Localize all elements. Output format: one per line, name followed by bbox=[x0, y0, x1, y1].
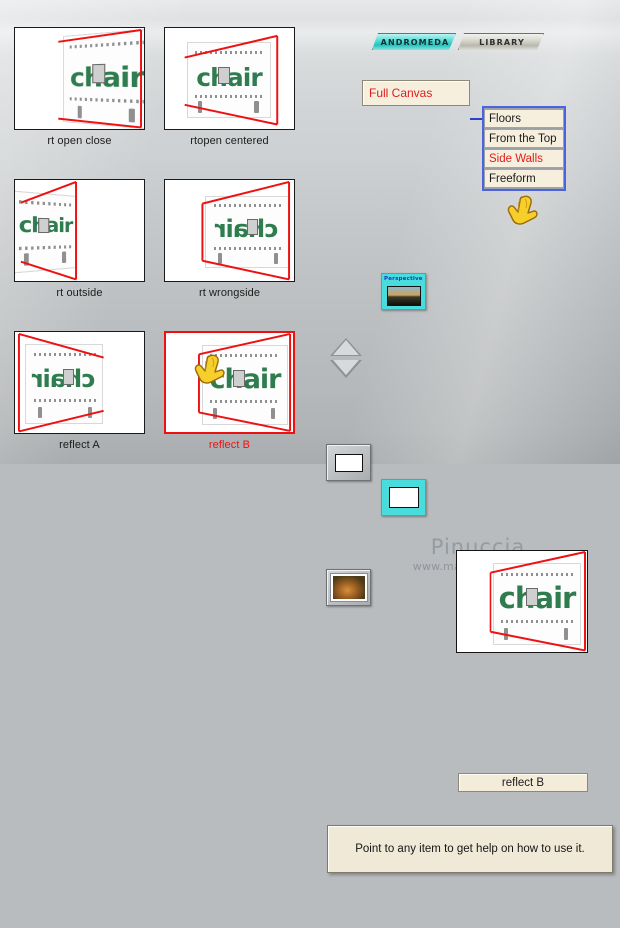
thumbnail-cell[interactable]: chair rt open close bbox=[14, 27, 145, 147]
rect-icon bbox=[389, 487, 419, 508]
perspective-guides bbox=[165, 180, 294, 281]
menu-item-from-the-top[interactable]: From the Top bbox=[485, 129, 563, 148]
preview-label: reflect B bbox=[458, 773, 588, 792]
preset-perspective[interactable]: Perspective bbox=[381, 273, 426, 310]
rect-icon bbox=[335, 454, 363, 472]
preset-white-frame[interactable] bbox=[381, 479, 426, 516]
thumbnail-cell[interactable]: chair rtopen centered bbox=[164, 27, 295, 147]
thumbnail-image[interactable]: chair bbox=[14, 331, 145, 434]
perspective-guides bbox=[165, 28, 294, 129]
help-text-bar: Point to any item to get help on how to … bbox=[327, 825, 613, 873]
tab-bar: ANDROMEDA LIBRARY bbox=[372, 33, 620, 51]
perspective-guides bbox=[166, 333, 293, 433]
preview-canvas[interactable]: chair bbox=[456, 550, 588, 653]
thumbnail-image[interactable]: chair bbox=[164, 27, 295, 130]
thumbnail-image[interactable]: chair bbox=[164, 179, 295, 282]
menu-item-floors[interactable]: Floors bbox=[485, 109, 563, 128]
thumbnail-cell[interactable]: chair rt wrongside bbox=[164, 179, 295, 299]
thumbnail-image[interactable]: chair bbox=[14, 179, 145, 282]
menu-item-freeform[interactable]: Freeform bbox=[485, 169, 563, 188]
thumbnail-caption: rt open close bbox=[14, 135, 145, 147]
scroll-down-button[interactable] bbox=[330, 360, 362, 378]
thumbnail-caption: rt wrongside bbox=[164, 287, 295, 299]
thumbnail-caption: rtopen centered bbox=[164, 135, 295, 147]
photo-thumb-icon bbox=[387, 286, 421, 306]
perspective-guides bbox=[15, 332, 144, 433]
mode-menu: Floors From the Top Side Walls Freeform bbox=[482, 106, 566, 191]
mode-current-value[interactable]: Full Canvas bbox=[362, 80, 470, 106]
thumbnail-image[interactable]: chair bbox=[164, 331, 295, 434]
thumbnail-cell-selected[interactable]: chair bbox=[164, 331, 295, 451]
perspective-plugin-window: chair rt open close bbox=[0, 0, 620, 464]
preset-image-sample[interactable] bbox=[326, 569, 371, 606]
preset-perspective-label: Perspective bbox=[384, 276, 423, 282]
scroll-up-button[interactable] bbox=[330, 338, 362, 356]
perspective-guides bbox=[457, 551, 587, 652]
hand-pointer-icon bbox=[506, 192, 540, 236]
perspective-guides bbox=[15, 28, 144, 129]
menu-item-side-walls[interactable]: Side Walls bbox=[485, 149, 563, 168]
thumbnail-caption: reflect B bbox=[164, 439, 295, 451]
thumbnail-cell[interactable]: chair reflect A bbox=[14, 331, 145, 451]
preset-surface-grid[interactable] bbox=[326, 444, 371, 481]
thumbnail-caption: reflect A bbox=[14, 439, 145, 451]
scroll-arrows bbox=[330, 338, 362, 378]
thumbnail-cell[interactable]: chair rt outside bbox=[14, 179, 145, 299]
photo-thumb-icon bbox=[331, 574, 367, 601]
thumbnail-caption: rt outside bbox=[14, 287, 145, 299]
thumbnail-image[interactable]: chair bbox=[14, 27, 145, 130]
perspective-guides bbox=[15, 180, 144, 281]
tab-andromeda[interactable]: ANDROMEDA bbox=[372, 33, 456, 50]
tab-library[interactable]: LIBRARY bbox=[458, 33, 544, 50]
